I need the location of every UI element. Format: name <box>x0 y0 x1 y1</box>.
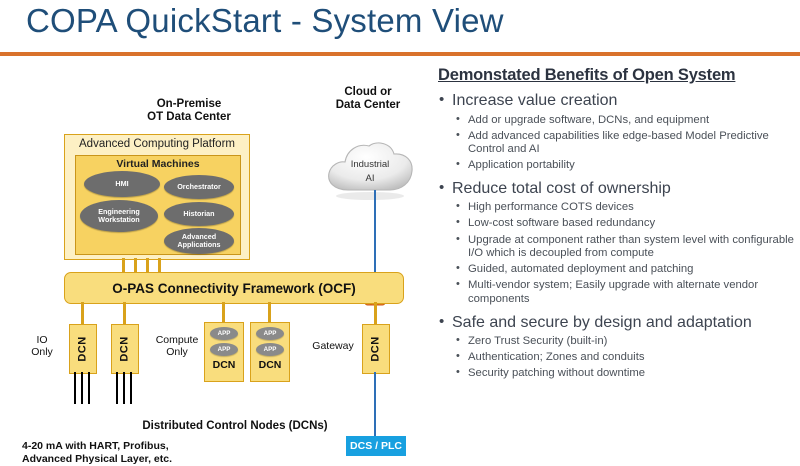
dcn-compute-only-1: APP APP DCN <box>204 322 244 382</box>
field-protocol-note: 4-20 mA with HART, Profibus, Advanced Ph… <box>22 440 252 466</box>
benefit-item: High performance COTS devices <box>438 201 794 215</box>
io-only-label: IO Only <box>18 334 66 358</box>
advanced-computing-platform-box: Advanced Computing Platform Virtual Mach… <box>64 134 250 260</box>
cloud-text: Industrial AI <box>322 158 418 186</box>
dcn-compute-only-2: APP APP DCN <box>250 322 290 382</box>
cloud-label-line2: Data Center <box>336 99 401 111</box>
field-wire <box>123 372 125 404</box>
dcn-label: DCN <box>77 336 89 361</box>
benefit-group-title: Increase value creation <box>438 91 794 111</box>
field-wire <box>130 372 132 404</box>
dcs-plc-box: DCS / PLC <box>346 436 406 456</box>
benefit-item: Add or upgrade software, DCNs, and equip… <box>438 114 794 128</box>
dcn-label: DCN <box>370 336 382 361</box>
dcn-label: DCN <box>205 359 243 371</box>
field-wire <box>81 372 83 404</box>
dcn-label: DCN <box>119 336 131 361</box>
benefit-item: Low-cost software based redundancy <box>438 217 794 231</box>
vm-engineering-workstation: Engineering Workstation <box>80 200 158 232</box>
cloud-text-line2: AI <box>366 173 375 184</box>
dcn-label: DCN <box>251 359 289 371</box>
acp-ocf-connector-1 <box>122 258 125 272</box>
cloud-label-line1: Cloud or <box>344 86 391 98</box>
acp-title: Advanced Computing Platform <box>65 138 249 150</box>
benefit-item: Add advanced capabilities like edge-base… <box>438 130 794 157</box>
field-note-line2: Advanced Physical Layer, etc. <box>22 453 172 465</box>
cloud-shape: Industrial AI <box>322 134 418 204</box>
system-view-diagram: On-Premise OT Data Center Cloud or Data … <box>0 58 432 446</box>
acp-ocf-connector-3 <box>146 258 149 272</box>
benefit-item: Guided, automated deployment and patchin… <box>438 263 794 277</box>
dcn-gateway: DCN <box>362 324 390 374</box>
vm-hmi: HMI <box>84 171 160 197</box>
benefit-item: Zero Trust Security (built-in) <box>438 335 794 349</box>
benefit-item: Authentication; Zones and conduits <box>438 351 794 365</box>
compute-only-line2: Only <box>166 346 188 358</box>
ocf-bar: O-PAS Connectivity Framework (OCF) <box>64 272 404 304</box>
benefit-item: Application portability <box>438 159 794 173</box>
benefits-panel: Demonstated Benefits of Open System Incr… <box>438 66 794 383</box>
ocf-drop-appbox2 <box>268 302 271 322</box>
benefits-heading: Demonstated Benefits of Open System <box>438 66 794 85</box>
title-divider <box>0 52 800 56</box>
app-ellipse: APP <box>256 343 284 356</box>
gateway-dcs-link <box>374 372 376 436</box>
field-wire <box>116 372 118 404</box>
ocf-drop-dcn2 <box>123 302 126 324</box>
io-only-line2: Only <box>31 346 53 358</box>
dcn-io-only-1: DCN <box>69 324 97 374</box>
vm-advanced-applications: Advanced Applications <box>164 228 234 254</box>
io-only-line1: IO <box>36 334 47 346</box>
field-note-line1: 4-20 mA with HART, Profibus, <box>22 440 169 452</box>
acp-ocf-connector-4 <box>158 258 161 272</box>
benefit-item: Multi-vendor system; Easily upgrade with… <box>438 279 794 306</box>
acp-ocf-connector-2 <box>134 258 137 272</box>
ocf-drop-dcn1 <box>81 302 84 324</box>
virtual-machines-box: Virtual Machines HMI Orchestrator Engine… <box>75 155 241 255</box>
page-title: COPA QuickStart - System View <box>26 2 504 40</box>
dcn-io-only-2: DCN <box>111 324 139 374</box>
dcn-caption: Distributed Control Nodes (DCNs) <box>130 420 340 432</box>
cloud-text-line1: Industrial <box>351 159 390 170</box>
benefit-group-title: Reduce total cost of ownership <box>438 179 794 199</box>
app-ellipse: APP <box>210 327 238 340</box>
app-ellipse: APP <box>210 343 238 356</box>
field-wire <box>74 372 76 404</box>
benefit-item: Upgrade at component rather than system … <box>438 234 794 261</box>
vm-orchestrator: Orchestrator <box>164 175 234 199</box>
ocf-drop-appbox1 <box>222 302 225 322</box>
vm-historian: Historian <box>164 202 234 226</box>
benefit-group-title: Safe and secure by design and adaptation <box>438 313 794 333</box>
virtual-machines-title: Virtual Machines <box>76 158 240 170</box>
on-premise-label-line1: On-Premise <box>157 98 222 110</box>
on-premise-label-line2: OT Data Center <box>147 111 231 123</box>
compute-only-line1: Compute <box>156 334 199 346</box>
app-ellipse: APP <box>256 327 284 340</box>
compute-only-label: Compute Only <box>152 334 202 358</box>
gateway-label: Gateway <box>306 340 360 352</box>
ocf-drop-gateway <box>374 302 377 324</box>
cloud-label: Cloud or Data Center <box>318 86 418 112</box>
on-premise-label: On-Premise OT Data Center <box>104 98 274 124</box>
benefit-item: Security patching without downtime <box>438 367 794 381</box>
field-wire <box>88 372 90 404</box>
